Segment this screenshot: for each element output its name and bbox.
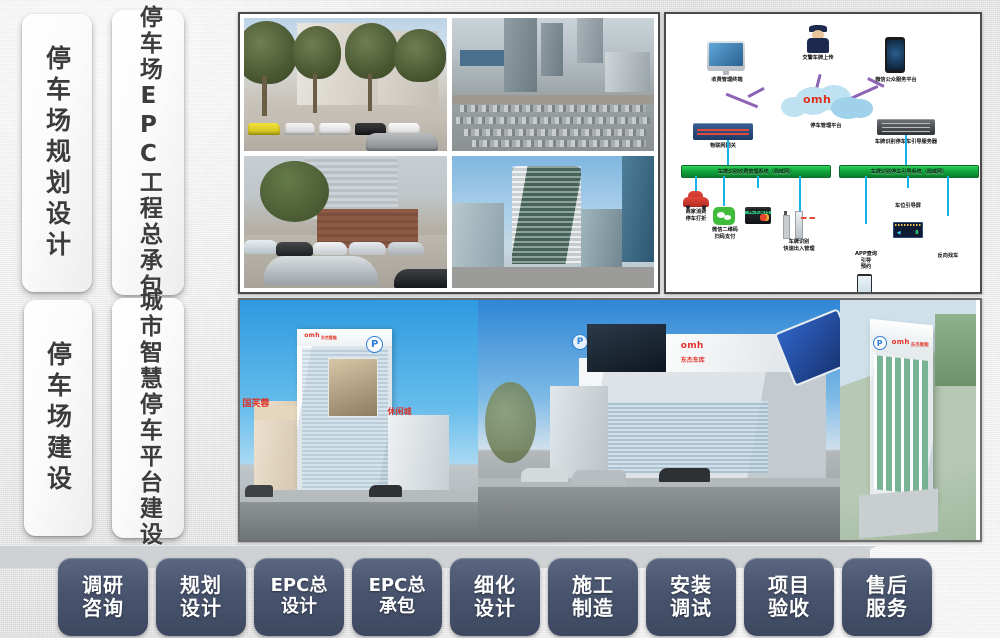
step-construction[interactable]: 施工 制造 (548, 558, 638, 636)
step-line-2: 验收 (768, 597, 810, 620)
service-card-label: 停车场建设 (45, 341, 72, 496)
link-line (727, 140, 729, 162)
photo-glass-tower (452, 156, 655, 289)
service-card-parking-planning[interactable]: 停车场规划设计 (22, 14, 92, 292)
service-card-parking-construction[interactable]: 停车场建设 (24, 300, 92, 536)
step-line-2: 设计 (281, 597, 317, 618)
step-line-1: EPC总 (369, 576, 426, 597)
rendering-brand-cn: 东杰智能 (321, 335, 337, 341)
space-guidance-screen-label: 车位引导屏 (885, 203, 931, 210)
merchant-discount-label: 商家消费 停车打折 (675, 209, 717, 222)
step-line-1: 项目 (768, 574, 810, 597)
link-line (695, 176, 697, 192)
wechat-qr-payment-label: 微信二维码 扫码支付 (703, 227, 747, 240)
link-line (723, 176, 725, 206)
rendering-sign-right: 休闲城 (388, 406, 412, 417)
process-steps-bar: 调研 咨询 规划 设计 EPC总 设计 EPC总 承包 细化 设计 施工 制造 … (58, 558, 994, 636)
step-line-2: 设计 (474, 597, 516, 620)
ic-card-payment-label: IC卡支付 (741, 209, 777, 216)
step-epc-design[interactable]: EPC总 设计 (254, 558, 344, 636)
service-card-label: 城市智慧停车平台建设 (136, 288, 161, 548)
step-line-1: 细化 (474, 574, 516, 597)
link-line (947, 176, 949, 216)
bolt-connector (747, 87, 764, 98)
service-card-label: 停车场EPC工程总承包 (136, 5, 161, 300)
cloud-platform-label: 停车管理平台 (791, 123, 861, 130)
wechat-platform-label: 微信公众服务平台 (865, 77, 927, 84)
cloud-platform: omh (781, 85, 873, 119)
wechat-platform-phone-icon (885, 37, 905, 73)
traffic-police-label: 交警车牌上传 (789, 55, 847, 62)
step-line-2: 制造 (572, 597, 614, 620)
rendering-parking-garage: omh 东杰车库 P (478, 300, 840, 540)
space-guidance-screen-icon: ◀8 (893, 222, 923, 238)
step-line-1: 售后 (866, 574, 908, 597)
link-line (907, 176, 909, 188)
photo-surface-parking-lot (244, 18, 447, 151)
step-line-2: 调试 (670, 597, 712, 620)
step-line-2: 设计 (180, 597, 222, 620)
parking-p-mark: P (366, 336, 383, 353)
step-line-2: 咨询 (82, 597, 124, 620)
traffic-police-icon (807, 25, 829, 53)
rendering-brand-cn: 东杰车库 (681, 355, 705, 364)
step-acceptance[interactable]: 项目 验收 (744, 558, 834, 636)
reverse-car-finding-icon (937, 292, 959, 294)
service-card-label: 停车场规划设计 (44, 45, 71, 262)
plate-guidance-system-label: 车牌识别停车引导系统（局域网） (871, 168, 947, 175)
photo-grid (244, 18, 654, 288)
link-line (905, 135, 907, 166)
plate-guidance-system-box[interactable]: 车牌识别停车引导系统（局域网） (839, 165, 979, 178)
link-line (757, 176, 759, 188)
step-line-1: 调研 (82, 574, 124, 597)
toll-management-terminal-icon (707, 41, 745, 71)
app-query-guidance-icon (857, 274, 872, 294)
app-query-guidance-label: APP查询 引导 预约 (845, 251, 887, 271)
link-line (865, 176, 867, 224)
step-line-1: 安装 (670, 574, 712, 597)
step-after-sales[interactable]: 售后 服务 (842, 558, 932, 636)
photo-aerial-parking (452, 18, 655, 151)
photo-parking-brick-building (244, 156, 447, 289)
service-card-epc-contracting[interactable]: 停车场EPC工程总承包 (112, 10, 184, 295)
rendering-brand-logo: omh (892, 338, 910, 346)
step-epc-contracting[interactable]: EPC总 承包 (352, 558, 442, 636)
merchant-discount-car-icon (683, 191, 709, 207)
parking-p-mark: P (873, 336, 887, 350)
rendering-brand-logo: omh (304, 332, 320, 339)
guidance-server-icon (877, 119, 935, 135)
rendering-sign-left: 国芙蓉 (242, 396, 269, 409)
wechat-qr-payment-icon (713, 207, 735, 225)
iot-gateway-icon (693, 123, 753, 140)
system-architecture-diagram: omh 停车管理平台 收费管理终端 交警车牌上传 微信公众服务平台 物联网网关 … (664, 12, 982, 294)
service-card-smart-platform[interactable]: 城市智慧停车平台建设 (112, 298, 184, 538)
photo-gallery-panel (238, 12, 660, 294)
rendering-brand-cn: 东杰智能 (911, 342, 929, 348)
link-line (799, 176, 801, 212)
plate-entry-exit-icon (781, 209, 815, 237)
step-planning-design[interactable]: 规划 设计 (156, 558, 246, 636)
step-line-1: 施工 (572, 574, 614, 597)
step-line-2: 承包 (379, 597, 415, 618)
plate-toll-system-label: 车牌识别收费管理系统（局域网） (718, 168, 794, 175)
rendering-brand-logo: omh (681, 341, 704, 351)
reverse-car-finding-label: 反向找车 (929, 253, 967, 260)
step-line-2: 服务 (866, 597, 908, 620)
plate-entry-exit-label: 车牌识别 快速出入管理 (773, 239, 825, 252)
step-installation[interactable]: 安装 调试 (646, 558, 736, 636)
plate-toll-system-box[interactable]: 车牌识别收费管理系统（局域网） (681, 165, 831, 178)
rendering-parking-tower-street: 国芙蓉 omh 东杰智能 P 休闲城 (240, 300, 478, 540)
rendering-gallery-panel: 国芙蓉 omh 东杰智能 P 休闲城 omh 东杰车库 P (238, 298, 982, 542)
step-detailed-design[interactable]: 细化 设计 (450, 558, 540, 636)
step-line-1: 规划 (180, 574, 222, 597)
rendering-parking-tower-aerial: P omh 东杰智能 (840, 300, 976, 540)
omh-brand-logo: omh (803, 93, 831, 106)
rendering-billboard (328, 358, 378, 418)
step-line-1: EPC总 (271, 576, 328, 597)
toll-management-terminal-label: 收费管理终端 (699, 77, 755, 84)
step-research[interactable]: 调研 咨询 (58, 558, 148, 636)
iot-gateway-label: 物联网网关 (695, 143, 751, 150)
